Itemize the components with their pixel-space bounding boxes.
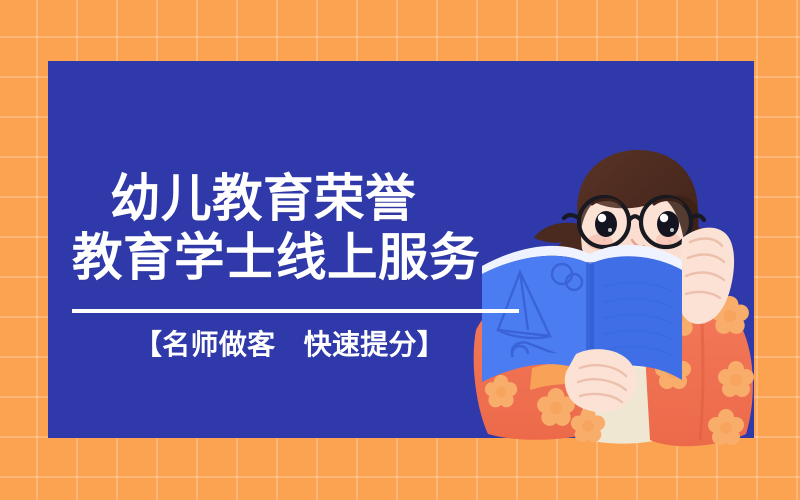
banner-root: 幼儿教育荣誉 教育学士线上服务 【名师做客 快速提分】	[0, 0, 800, 500]
hand-holding-book	[565, 349, 637, 412]
girl-reading-book-illustration	[468, 140, 788, 480]
